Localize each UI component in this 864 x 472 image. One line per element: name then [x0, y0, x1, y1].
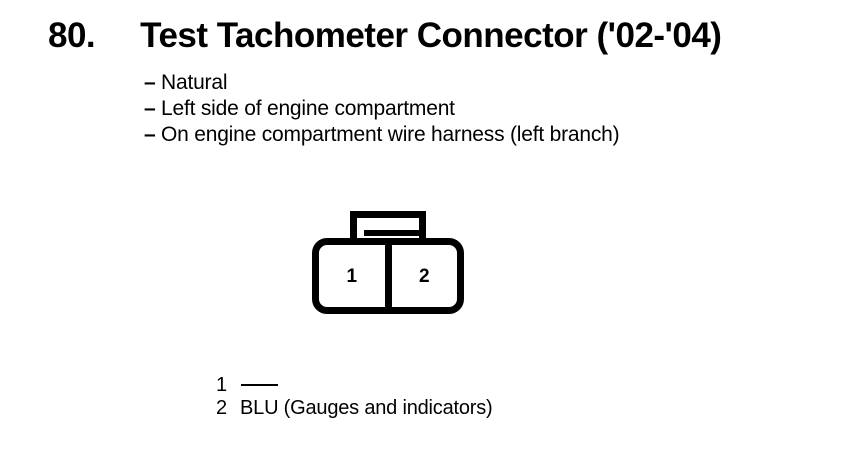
legend-pin-number: 1 — [216, 374, 240, 397]
spec-item-label: Natural — [161, 70, 227, 96]
legend-wire-description: BLU (Gauges and indicators) — [240, 397, 493, 420]
legend-row: 2 BLU (Gauges and indicators) — [216, 397, 636, 420]
spec-item-label: Left side of engine compartment — [161, 96, 455, 122]
spec-list-item: – Natural — [144, 70, 804, 96]
document-page: 80. Test Tachometer Connector ('02-'04) … — [0, 0, 864, 472]
connector-body: 1 2 — [312, 238, 464, 314]
connector-diagram: 1 2 — [312, 211, 466, 317]
dash-bullet-icon: – — [144, 96, 161, 122]
spec-list-item: – On engine compartment wire harness (le… — [144, 122, 804, 148]
connector-cavity-2: 2 — [385, 245, 458, 307]
connector-pin-label: 1 — [346, 267, 357, 286]
legend-pin-number: 2 — [216, 397, 240, 420]
spec-list: – Natural – Left side of engine compartm… — [144, 70, 804, 148]
connector-cavity-1: 1 — [319, 245, 385, 307]
terminal-legend: 1 2 BLU (Gauges and indicators) — [216, 374, 636, 420]
item-number: 80. — [48, 16, 95, 56]
legend-empty-line-icon — [241, 384, 278, 386]
legend-row: 1 — [216, 374, 636, 397]
spec-item-label: On engine compartment wire harness (left… — [161, 122, 619, 148]
page-title: Test Tachometer Connector ('02-'04) — [140, 16, 721, 56]
dash-bullet-icon: – — [144, 70, 161, 96]
connector-tab-slot — [364, 230, 426, 236]
dash-bullet-icon: – — [144, 122, 161, 148]
connector-pin-label: 2 — [419, 267, 430, 286]
spec-list-item: – Left side of engine compartment — [144, 96, 804, 122]
page-header: 80. Test Tachometer Connector ('02-'04) — [48, 16, 838, 56]
